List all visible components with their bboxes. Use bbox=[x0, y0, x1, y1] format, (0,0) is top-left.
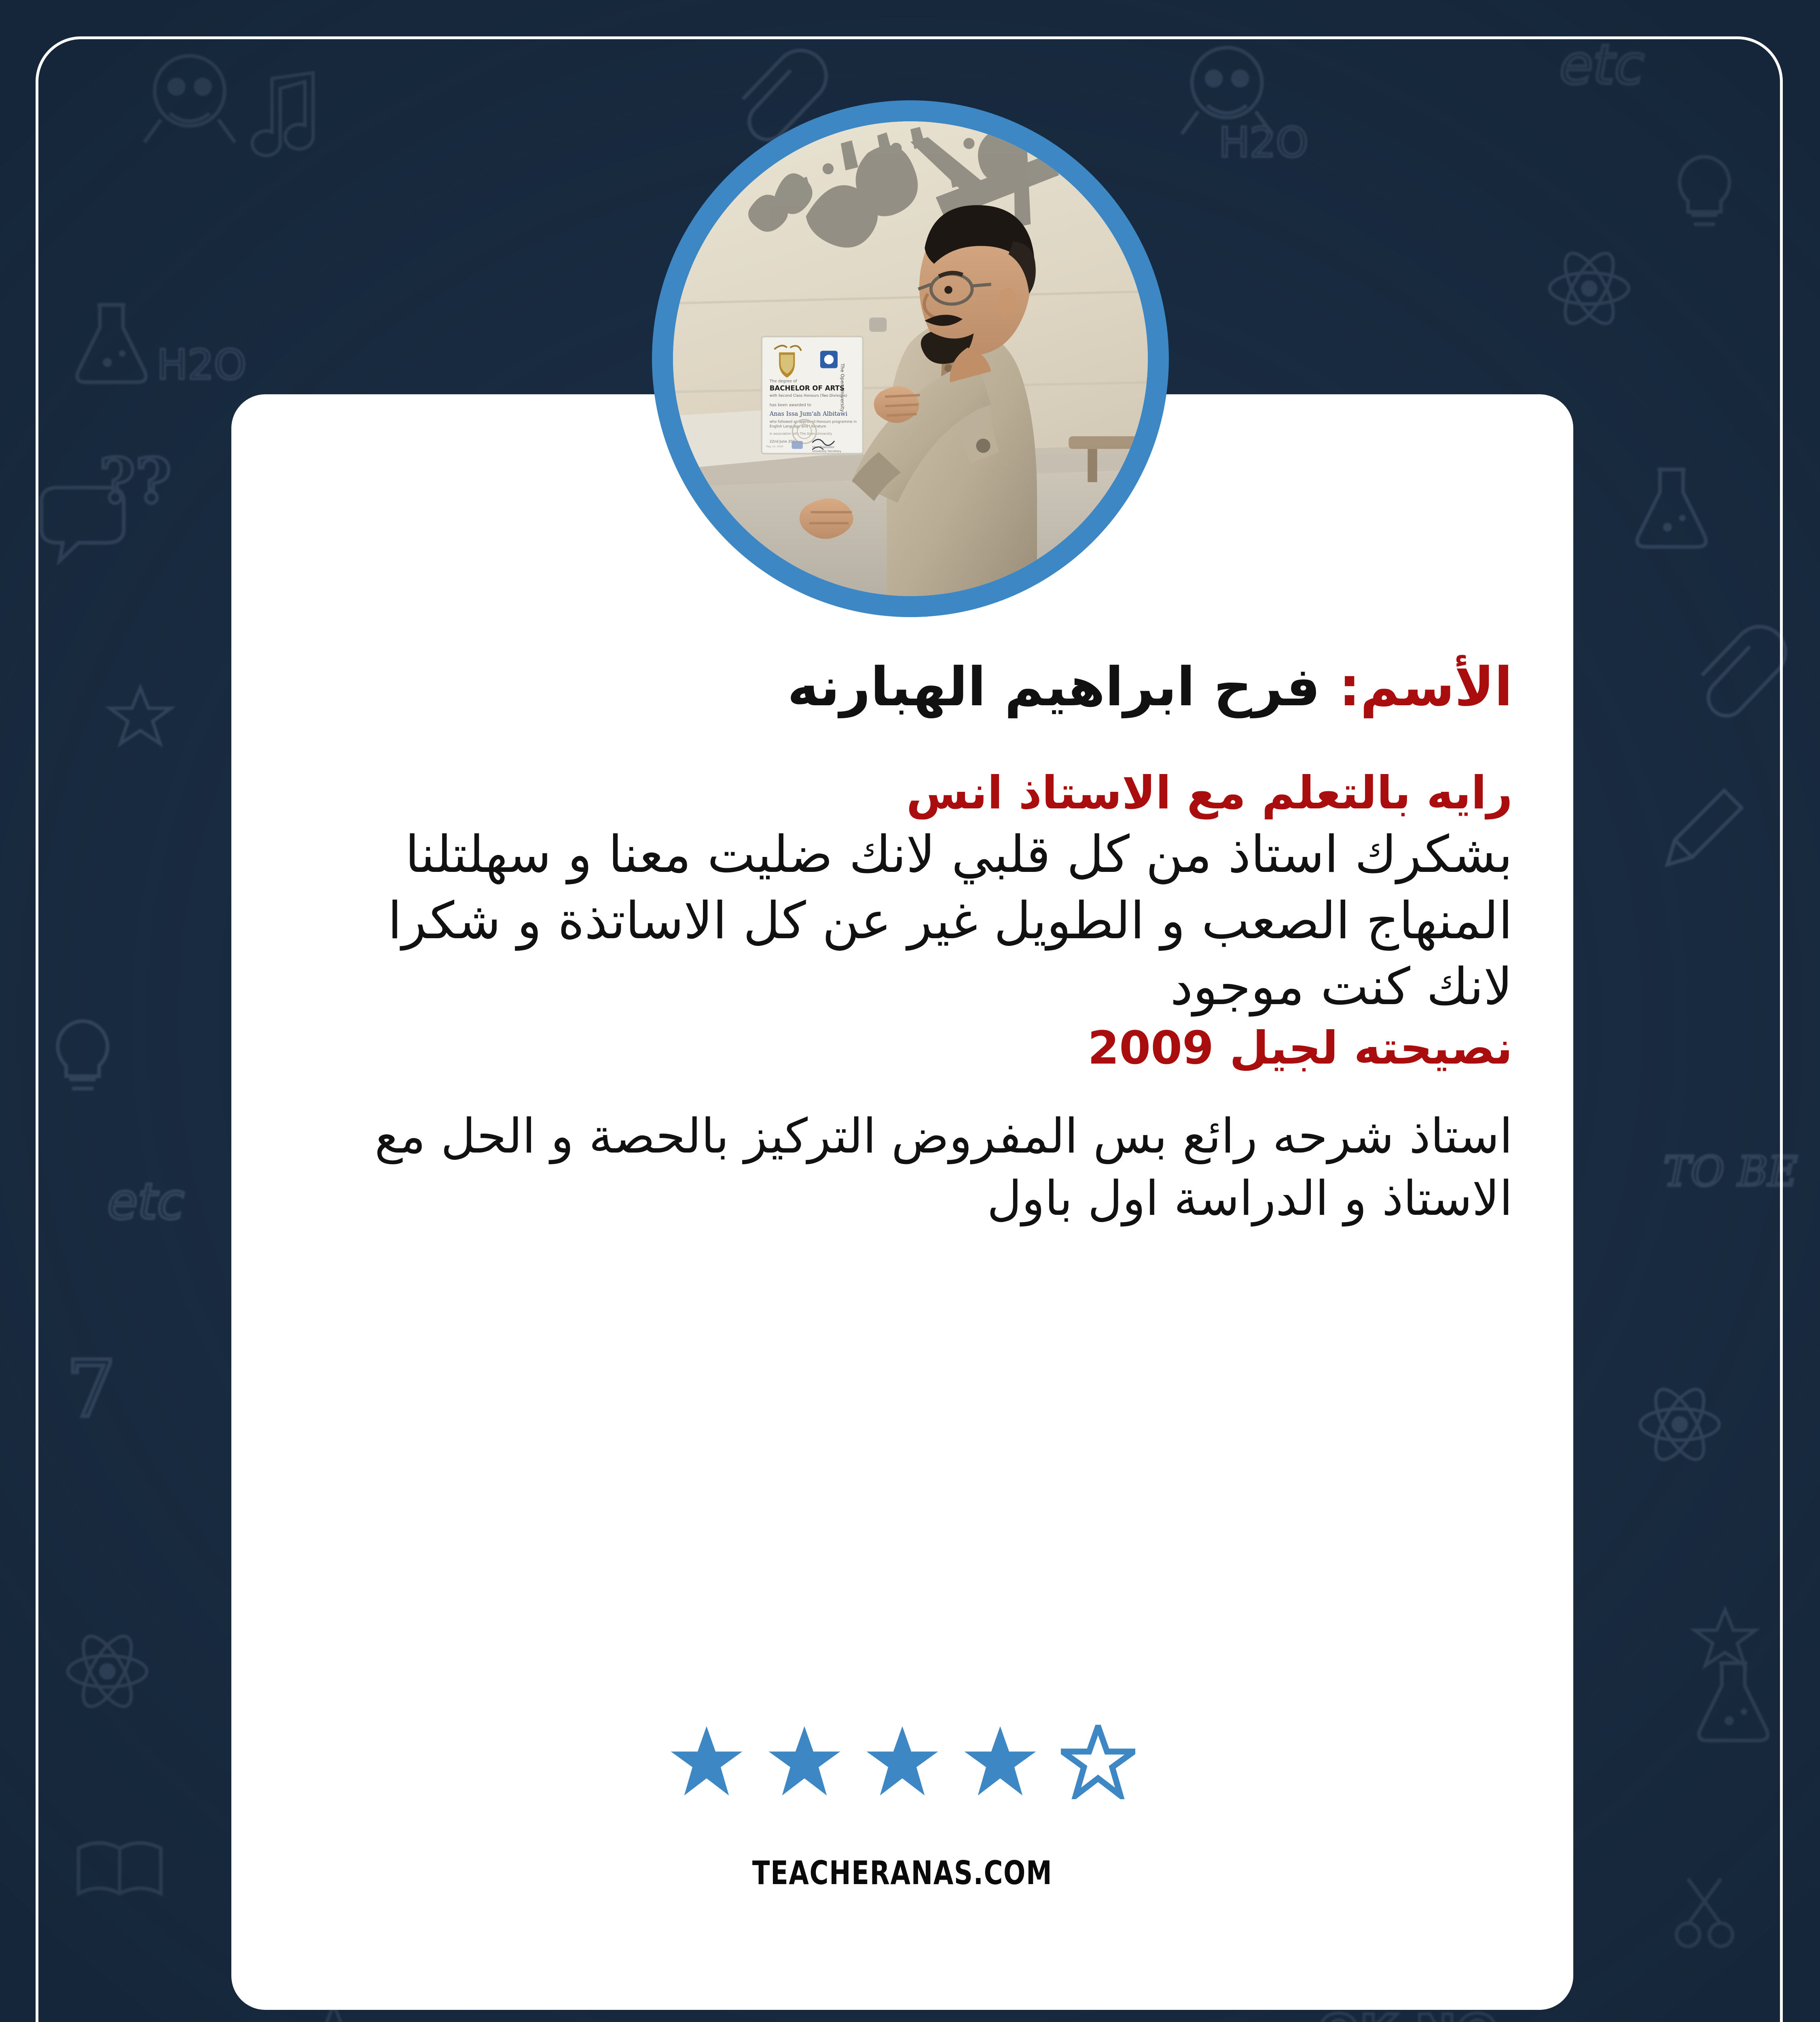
svg-text:BACHELOR OF ARTS: BACHELOR OF ARTS bbox=[770, 384, 844, 392]
advice-body: استاذ شرحه رائع بس المفروض التركيز بالحص… bbox=[292, 1105, 1513, 1229]
star-filled-2-icon bbox=[767, 1725, 842, 1799]
teacher-photo-icon: The Open University The degree of BACHEL… bbox=[673, 121, 1148, 596]
star-filled-3-icon bbox=[865, 1725, 940, 1799]
footer: TEACHERANAS.COM bbox=[231, 1854, 1573, 1892]
svg-text:in association with The Open U: in association with The Open University bbox=[770, 432, 832, 436]
testimonial-content: الأسم: فرح ابراهيم الهبارنه رايه بالتعلم… bbox=[231, 653, 1573, 1229]
avatar: The Open University The degree of BACHEL… bbox=[673, 121, 1148, 596]
student-name-value: فرح ابراهيم الهبارنه bbox=[787, 656, 1321, 718]
website-label: TEACHERANAS.COM bbox=[752, 1854, 1053, 1892]
svg-text:The degree of: The degree of bbox=[769, 379, 798, 384]
advice-heading: نصيحته لجيل 2009 bbox=[292, 1020, 1513, 1077]
rating-stars bbox=[231, 1725, 1573, 1799]
avatar-ring: The Open University The degree of BACHEL… bbox=[652, 100, 1169, 617]
review-heading: رايه بالتعلم مع الاستاذ انس bbox=[292, 765, 1513, 821]
review-body: بشكرك استاذ من كل قلبي لانك ضليت معنا و … bbox=[292, 821, 1513, 1020]
star-filled-1-icon bbox=[669, 1725, 744, 1799]
testimonial-card: الأسم: فرح ابراهيم الهبارنه رايه بالتعلم… bbox=[231, 394, 1573, 2010]
svg-text:with Second Class Honours (Two: with Second Class Honours (Two Divisions… bbox=[770, 394, 847, 398]
svg-text:Reg. no. XXXX: Reg. no. XXXX bbox=[766, 446, 783, 448]
name-label: الأسم: bbox=[1339, 656, 1513, 718]
svg-text:has been awarded to: has been awarded to bbox=[770, 403, 811, 407]
star-empty-5-icon bbox=[1061, 1725, 1135, 1799]
svg-text:Anas Issa Jum'ah Albitawi: Anas Issa Jum'ah Albitawi bbox=[769, 410, 848, 417]
student-name-line: الأسم: فرح ابراهيم الهبارنه bbox=[292, 653, 1513, 721]
star-filled-4-icon bbox=[963, 1725, 1037, 1799]
svg-text:University Secretary: University Secretary bbox=[812, 449, 841, 453]
